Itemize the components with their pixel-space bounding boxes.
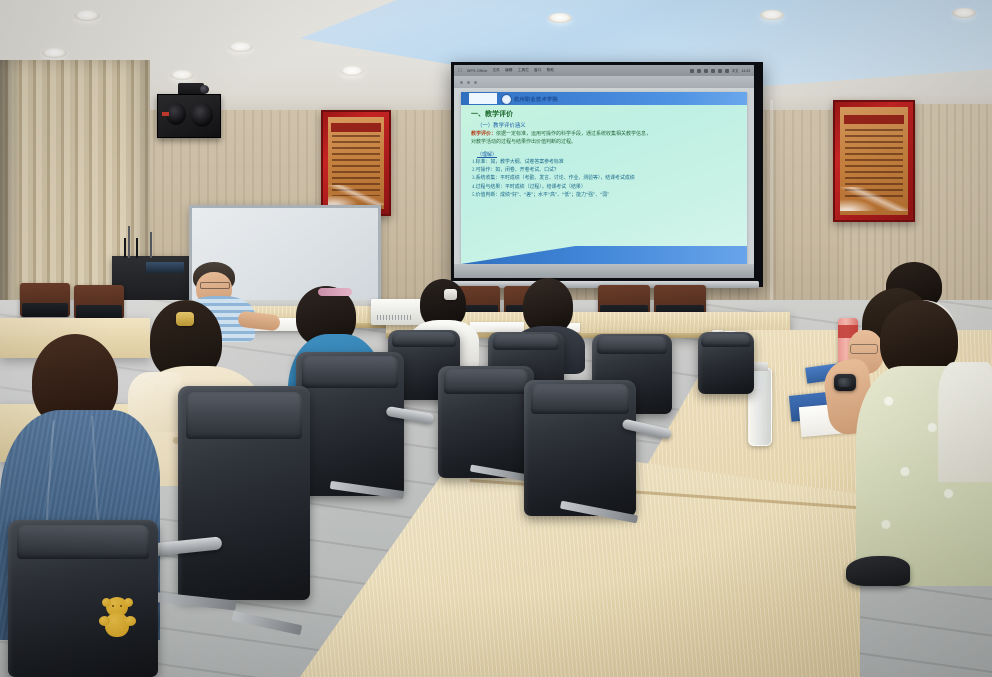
slide-list-item: 1.标准：如，教学大纲、试卷答案参考标准 (472, 159, 739, 167)
glasses-icon (850, 344, 878, 354)
office-chair (524, 380, 636, 516)
projection-screen-frame:  WPS Office 文件 编辑 工具栏 窗口 帮助 中文 14:43 (451, 62, 763, 287)
bear-eye (120, 605, 122, 607)
hair-clip (176, 312, 194, 326)
speaker-cone (166, 103, 186, 125)
wifi-icon[interactable] (697, 69, 701, 73)
app-toolbar-strip[interactable] (454, 76, 754, 88)
projection-screen:  WPS Office 文件 编辑 工具栏 窗口 帮助 中文 14:43 (454, 65, 754, 278)
toolbar-dot-icon[interactable] (474, 81, 477, 84)
slide-term-highlight: 教学评价： (471, 132, 496, 137)
ceiling-downlight (42, 48, 67, 58)
ceiling-downlight (760, 10, 784, 20)
slide-list-item: 3.系统收集：平时成绩（考勤、发言、讨论、作业、测验等），结课考试成绩 (472, 175, 739, 183)
menu-item-help[interactable]: 帮助 (547, 68, 555, 73)
slide-list-item: 5.价值判断：成绩“好”、“差”；水平“高”、“低”；能力“强”、“弱” (472, 192, 739, 200)
os-menu-bar[interactable]:  WPS Office 文件 编辑 工具栏 窗口 帮助 中文 14:43 (454, 65, 754, 76)
headband (318, 288, 352, 296)
poster-inner (328, 117, 384, 209)
control-center-icon[interactable] (725, 69, 729, 73)
wall-seam (770, 100, 773, 320)
poster-title-bar (844, 115, 904, 125)
poster-inner (840, 107, 908, 215)
ceiling-downlight (74, 10, 100, 21)
speaker-led-indicator (162, 112, 169, 116)
meeting-room-photo:  WPS Office 文件 编辑 工具栏 窗口 帮助 中文 14:43 (0, 0, 992, 677)
bear-body (105, 613, 129, 637)
smartwatch-face (838, 378, 852, 387)
toolbar-dot-icon[interactable] (467, 81, 470, 84)
menu-item-file[interactable]: 文件 (492, 68, 500, 73)
camera-lens-icon (200, 85, 209, 94)
chair-headrest (392, 332, 455, 347)
projector-vent (377, 315, 411, 320)
hair-clip (444, 289, 457, 300)
battery-icon[interactable] (690, 69, 694, 73)
menu-item-window[interactable]: 窗口 (534, 68, 542, 73)
apple-menu-icon[interactable]:  (458, 68, 462, 74)
menu-item-toolbar[interactable]: 工具栏 (518, 68, 529, 73)
antenna-icon (124, 238, 126, 258)
slide-bracket-label: （理解） (477, 151, 739, 158)
chair-headrest (444, 369, 528, 394)
slide-paragraph-1-text: 依据一定标准，运用可操作的科学手段，通过系统收集相关教学信息， (496, 132, 651, 137)
menu-bar-tray[interactable]: 中文 14:43 (690, 68, 750, 73)
slide-list-item: 4.过程与结果：平时成绩（过程），结课考试（结果） (472, 184, 739, 192)
chair-headrest (302, 356, 397, 388)
ceiling-downlight (340, 66, 364, 76)
right-wall-poster (833, 100, 915, 222)
poster-title-bar (331, 123, 380, 131)
slide-heading: 一、教学评价 (471, 109, 739, 119)
office-chair (698, 332, 754, 394)
chair-headrest (701, 334, 750, 348)
wall-chair (74, 285, 124, 319)
toolbar-dot-icon[interactable] (460, 81, 463, 84)
ceiling-downlight (228, 42, 253, 52)
office-chair (178, 386, 310, 600)
search-icon[interactable] (718, 69, 722, 73)
receiver-unit (146, 262, 184, 273)
sleeve (938, 362, 992, 482)
office-chair (296, 352, 404, 496)
bear-eye (112, 605, 114, 607)
ceiling-downlight (548, 13, 572, 23)
speaker-cone (191, 103, 213, 127)
presenter-glasses-icon (200, 282, 230, 289)
slide-subheading: （一）教学评价涵义 (477, 121, 739, 129)
bear-ear (124, 598, 133, 607)
slide-paragraph-2: 对教学活动的过程与结果作出价值判断的过程。 (471, 139, 739, 147)
poster-ribbon-graphic (328, 185, 384, 205)
ceiling-downlight (170, 70, 194, 80)
institution-logo: 杭州职业技术学院 (501, 94, 558, 105)
poster-ribbon-graphic (840, 187, 908, 211)
slide-paragraph-1: 教学评价：依据一定标准，运用可操作的科学手段，通过系统收集相关教学信息， (471, 131, 739, 139)
left-wall-poster (321, 110, 391, 216)
mic-stand (128, 226, 130, 258)
ceiling-downlight (952, 8, 976, 18)
bluetooth-icon[interactable] (704, 69, 708, 73)
chair-headrest (186, 392, 302, 439)
wall-chair (20, 283, 70, 317)
shoe (846, 556, 910, 586)
slide-body: 一、教学评价 （一）教学评价涵义 教学评价：依据一定标准，运用可操作的科学手段，… (461, 107, 747, 201)
clock-label: 14:43 (742, 69, 751, 73)
bear-arm (99, 616, 110, 626)
mic-stand (150, 232, 152, 258)
display-icon[interactable] (711, 69, 715, 73)
slide-footer-band (461, 246, 747, 264)
institution-name: 杭州职业技术学院 (514, 96, 558, 103)
bear-arm (125, 616, 136, 626)
office-chair (438, 366, 534, 478)
chair-headrest (531, 384, 630, 414)
menu-item-edit[interactable]: 编辑 (505, 68, 513, 73)
plush-bear-charm (100, 597, 136, 639)
presentation-slide: 杭州职业技术学院 一、教学评价 （一）教学评价涵义 教学评价：依据一定标准，运用… (461, 92, 747, 264)
antenna-icon (136, 238, 138, 258)
bear-ear (102, 598, 111, 607)
document-page (470, 322, 524, 332)
chair-headrest (17, 525, 149, 560)
screen-lower-margin (454, 264, 754, 278)
menu-item-app[interactable]: WPS Office (467, 69, 488, 73)
chair-headrest (597, 336, 667, 354)
chair-headrest (493, 334, 560, 350)
slide-logo-plate (469, 93, 497, 104)
seal-icon (501, 94, 512, 105)
slide-list-item: 2.可操作：如，闭卷、开卷考试、口试？ (472, 167, 739, 175)
chair-seat (76, 305, 122, 319)
input-method-label[interactable]: 中文 (732, 68, 739, 73)
curtain-shadow-fold (0, 60, 20, 335)
chair-seat (22, 303, 68, 317)
wall-speaker (157, 94, 221, 138)
